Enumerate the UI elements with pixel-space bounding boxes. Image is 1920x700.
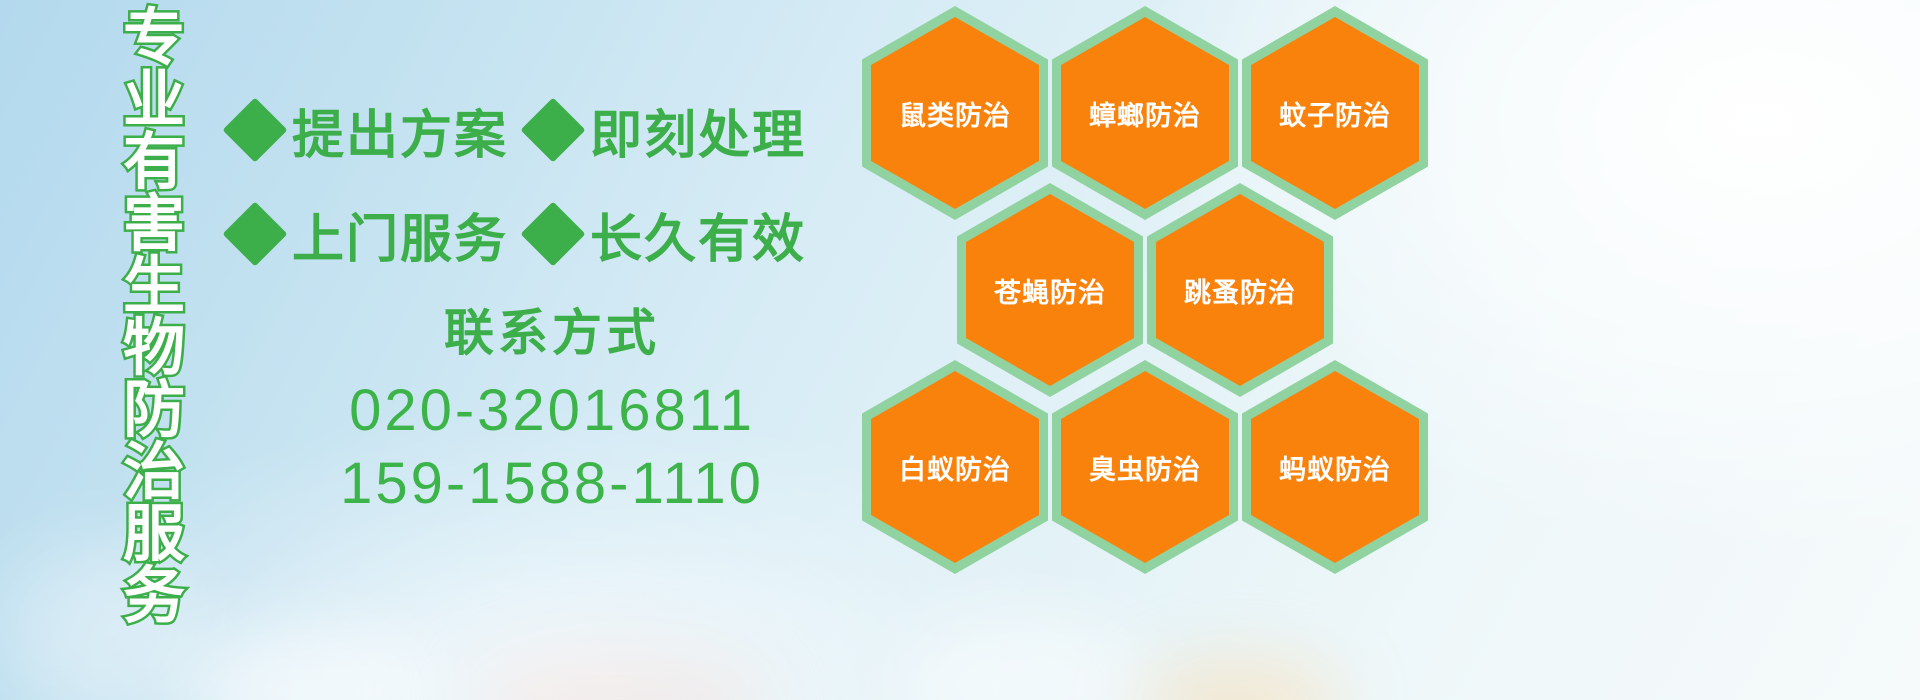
service-hex-fly[interactable]: 苍蝇防治	[957, 183, 1143, 397]
hex-inner-fill: 白蚁防治	[871, 371, 1039, 563]
pest-control-promo-banner: 专 业 有 害 生 物 防 治 服 务 提出方案 即刻处理 上门服务	[0, 0, 1920, 700]
vertical-headline-char: 治	[123, 442, 185, 504]
vertical-headline-char: 防	[123, 380, 185, 442]
service-hex-label: 苍蝇防治	[994, 271, 1106, 310]
feature-list: 提出方案 即刻处理 上门服务 长久有效	[232, 78, 872, 286]
service-hex-rodent[interactable]: 鼠类防治	[862, 6, 1048, 220]
feature-item: 提出方案	[232, 93, 508, 168]
service-hex-label: 鼠类防治	[899, 94, 1011, 133]
background-blur-blob	[470, 650, 770, 700]
contact-block: 联系方式 020-32016811 159-1588-1110	[232, 306, 872, 520]
vertical-headline-char: 生	[123, 256, 185, 318]
service-hex-label: 跳蚤防治	[1184, 271, 1296, 310]
hex-inner-fill: 臭虫防治	[1061, 371, 1229, 563]
feature-item: 即刻处理	[530, 93, 806, 168]
feature-label: 即刻处理	[590, 93, 806, 168]
vertical-headline-char: 业	[123, 70, 185, 132]
vertical-headline: 专 业 有 害 生 物 防 治 服 务	[106, 8, 202, 568]
hex-inner-fill: 跳蚤防治	[1156, 194, 1324, 386]
feature-label: 提出方案	[292, 93, 508, 168]
vertical-headline-char: 专	[123, 8, 185, 70]
feature-item: 上门服务	[232, 197, 508, 272]
feature-row: 上门服务 长久有效	[232, 182, 872, 286]
vertical-headline-char: 服	[123, 504, 185, 566]
service-hex-mosquito[interactable]: 蚊子防治	[1242, 6, 1428, 220]
vertical-headline-char: 害	[123, 194, 185, 256]
hex-inner-fill: 蟑螂防治	[1061, 17, 1229, 209]
hex-inner-fill: 蚂蚁防治	[1251, 371, 1419, 563]
hex-inner-fill: 苍蝇防治	[966, 194, 1134, 386]
diamond-icon	[222, 201, 287, 266]
service-hex-bedbug[interactable]: 臭虫防治	[1052, 360, 1238, 574]
vertical-headline-char: 务	[123, 566, 185, 628]
background-blur-blob	[180, 630, 440, 700]
diamond-icon	[520, 97, 585, 162]
diamond-icon	[222, 97, 287, 162]
vertical-headline-char: 物	[123, 318, 185, 380]
contact-heading: 联系方式	[232, 306, 872, 361]
feature-label: 长久有效	[590, 197, 806, 272]
hex-inner-fill: 鼠类防治	[871, 17, 1039, 209]
service-hex-label: 臭虫防治	[1089, 448, 1201, 487]
service-hex-termite[interactable]: 白蚁防治	[862, 360, 1048, 574]
service-hex-label: 蚊子防治	[1279, 94, 1391, 133]
phone-mobile[interactable]: 159-1588-1110	[232, 448, 872, 521]
hex-inner-fill: 蚊子防治	[1251, 17, 1419, 209]
service-hex-label: 蚂蚁防治	[1279, 448, 1391, 487]
feature-label: 上门服务	[292, 197, 508, 272]
feature-row: 提出方案 即刻处理	[232, 78, 872, 182]
service-hex-label: 白蚁防治	[899, 448, 1011, 487]
service-honeycomb: 鼠类防治 蟑螂防治 蚊子防治 苍蝇防治 跳蚤防治 白蚁防治	[858, 0, 1458, 700]
diamond-icon	[520, 201, 585, 266]
vertical-headline-char: 有	[123, 132, 185, 194]
service-hex-ant[interactable]: 蚂蚁防治	[1242, 360, 1428, 574]
service-hex-flea[interactable]: 跳蚤防治	[1147, 183, 1333, 397]
service-hex-label: 蟑螂防治	[1089, 94, 1201, 133]
service-hex-cockroach[interactable]: 蟑螂防治	[1052, 6, 1238, 220]
phone-landline[interactable]: 020-32016811	[232, 375, 872, 448]
feature-item: 长久有效	[530, 197, 806, 272]
